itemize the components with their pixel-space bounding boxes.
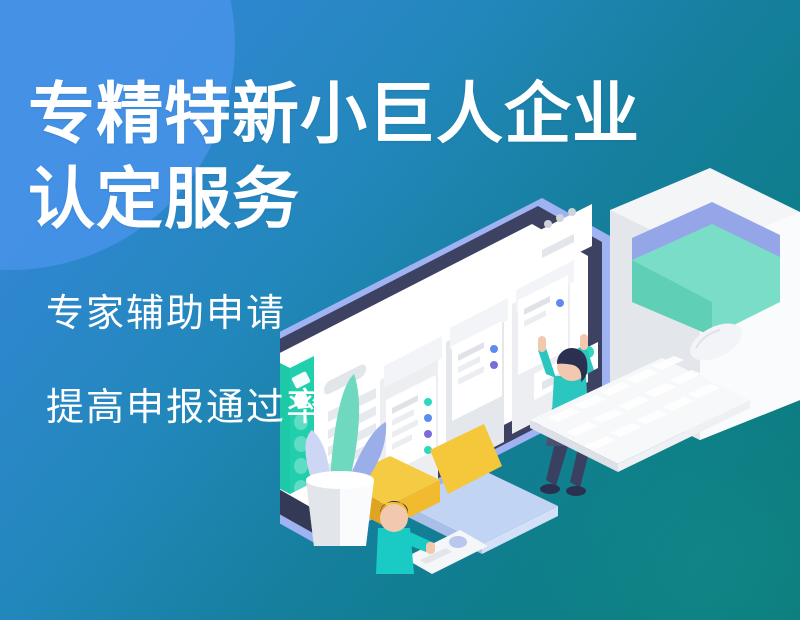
headline-block: 专精特新小巨人企业 认定服务 专家辅助申请 提高申报通过率	[28, 72, 448, 432]
subheadline-line-1: 专家辅助申请	[46, 290, 448, 338]
subheadline-line-2: 提高申报通过率	[46, 384, 448, 432]
headline-line-1: 专精特新小巨人企业	[28, 72, 448, 157]
headline-line-2: 认定服务	[28, 157, 448, 242]
promo-banner: 专精特新小巨人企业 认定服务 专家辅助申请 提高申报通过率	[0, 0, 800, 620]
